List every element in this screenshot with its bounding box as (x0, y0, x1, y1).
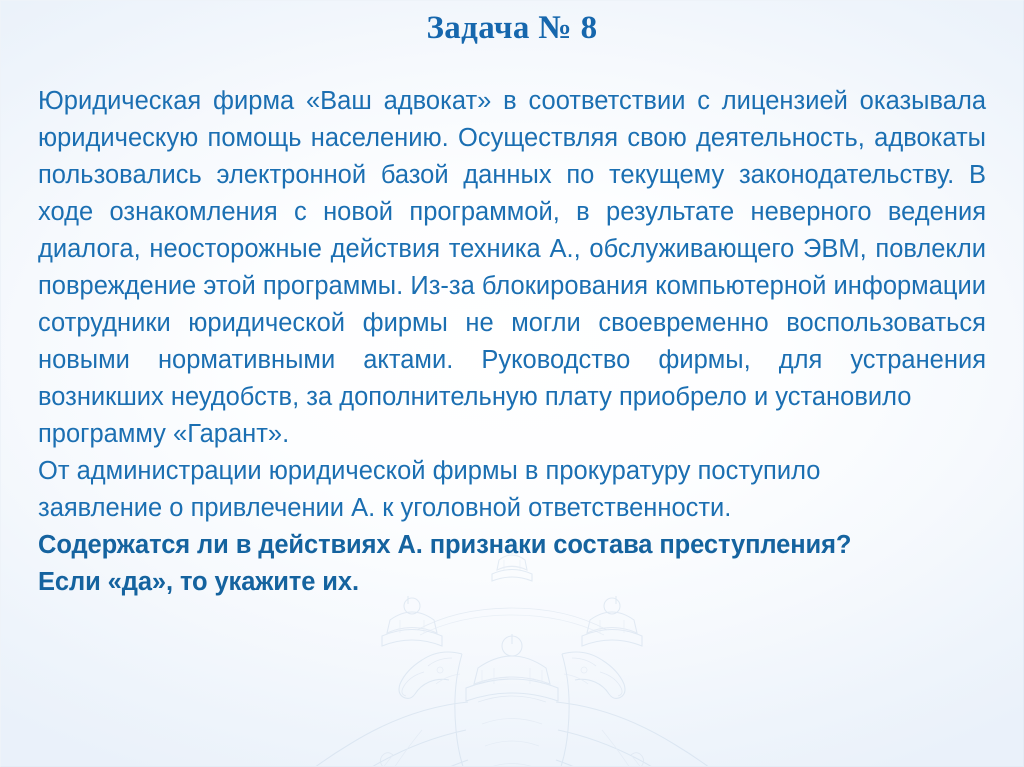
paragraph-case-description: Юридическая фирма «Ваш адвокат» в соотве… (38, 83, 986, 453)
paragraph-case-description-text: Юридическая фирма «Ваш адвокат» в соотве… (38, 87, 986, 411)
paragraph-prosecutor-line-2: заявление о привлечении А. к уголовной о… (38, 490, 986, 527)
paragraph-prosecutor-line-1: От администрации юридической фирмы в про… (38, 453, 986, 490)
paragraph-case-description-last-line: программу «Гарант». (38, 416, 986, 453)
question-line-2: Если «да», то укажите их. (38, 564, 986, 601)
question-line-1: Содержатся ли в действиях А. признаки со… (38, 527, 986, 564)
slide-title: Задача № 8 (0, 8, 1024, 48)
slide-body: Юридическая фирма «Ваш адвокат» в соотве… (38, 83, 986, 601)
presentation-slide: Задача № 8 Юридическая фирма «Ваш адвока… (0, 0, 1024, 767)
